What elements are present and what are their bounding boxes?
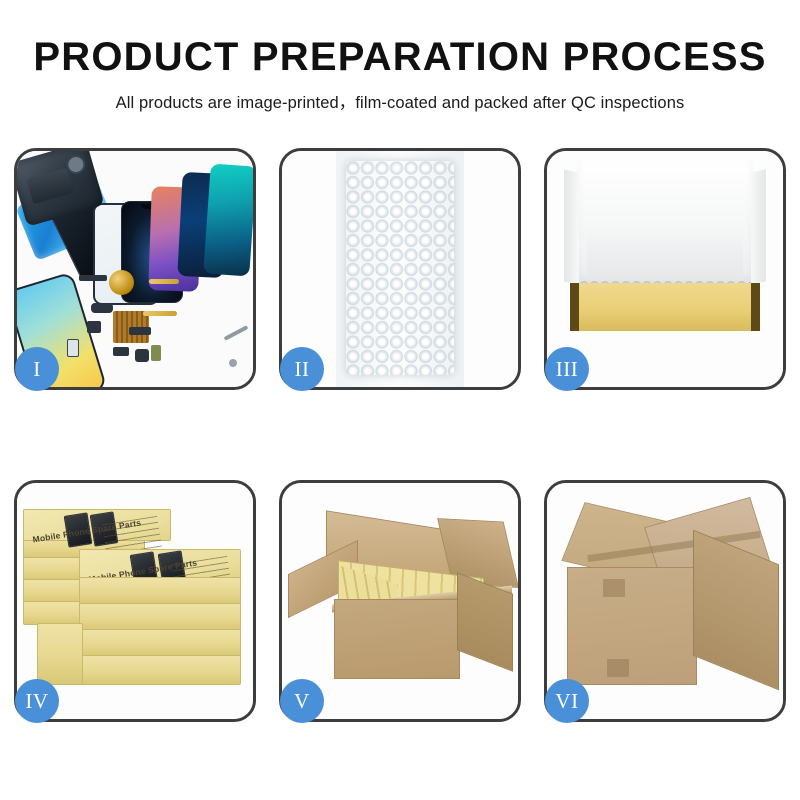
panel-5-image [282, 483, 518, 719]
vibration-motor-part [113, 347, 129, 356]
foam-insert [587, 225, 743, 279]
sim-card-part [67, 339, 79, 357]
retail-box-right-4 [79, 577, 241, 605]
step-badge-6: VI [545, 679, 589, 723]
process-panel-2: II [279, 148, 521, 390]
step-badge-5: V [280, 679, 324, 723]
speaker-part [79, 275, 107, 281]
process-panel-1: I [14, 148, 256, 390]
carton-handle-cutout-bottom [607, 659, 629, 677]
teal-display-phone [203, 164, 253, 277]
flex-cable-part-2 [143, 311, 177, 316]
page-subtitle: All products are image-printed，film-coat… [0, 89, 800, 113]
bubble-wrapped-part [346, 161, 454, 375]
carton-front-panel [334, 599, 460, 679]
sim-tray-part [87, 321, 101, 333]
charging-coil-part [109, 270, 134, 295]
step-badge-4: IV [15, 679, 59, 723]
retail-box-stack: Mobile Phone Spare Parts Mobile Phone Sp… [23, 507, 249, 705]
mailer-box-front-panel [572, 283, 758, 331]
battery-cell-part [151, 345, 161, 361]
battery-part [27, 168, 75, 205]
retail-box-right-1 [59, 655, 241, 685]
step-badge-2: II [280, 347, 324, 391]
retail-box-right-3 [79, 603, 241, 631]
process-panel-5: V [279, 480, 521, 722]
screw-part [229, 359, 237, 367]
panel-3-image [547, 151, 783, 387]
panel-4-image: Mobile Phone Spare Parts Mobile Phone Sp… [17, 483, 253, 719]
retail-box-left-front [37, 623, 83, 685]
button-part [135, 349, 149, 362]
process-panel-6: VI [544, 480, 786, 722]
panel-2-image [282, 151, 518, 387]
step-badge-1: I [15, 347, 59, 391]
page-header: PRODUCT PREPARATION PROCESS All products… [0, 0, 800, 113]
sealed-carton-front-panel [567, 567, 697, 685]
connector-part [91, 303, 113, 313]
page-title: PRODUCT PREPARATION PROCESS [0, 36, 800, 78]
panel-1-image [17, 151, 253, 387]
process-panel-3: III [544, 148, 786, 390]
retail-box-top-left: Mobile Phone Spare Parts [23, 509, 171, 541]
panel-6-image [547, 483, 783, 719]
antenna-part [129, 327, 151, 335]
process-panel-4: Mobile Phone Spare Parts Mobile Phone Sp… [14, 480, 256, 722]
flex-cable-part-1 [149, 279, 179, 284]
carton-handle-cutout-top [603, 579, 625, 597]
process-panel-grid: I II III [14, 148, 786, 722]
step-badge-3: III [545, 347, 589, 391]
retail-box-right-2 [79, 629, 241, 657]
retail-box-right-top: Mobile Phone Spare Parts [79, 549, 241, 579]
